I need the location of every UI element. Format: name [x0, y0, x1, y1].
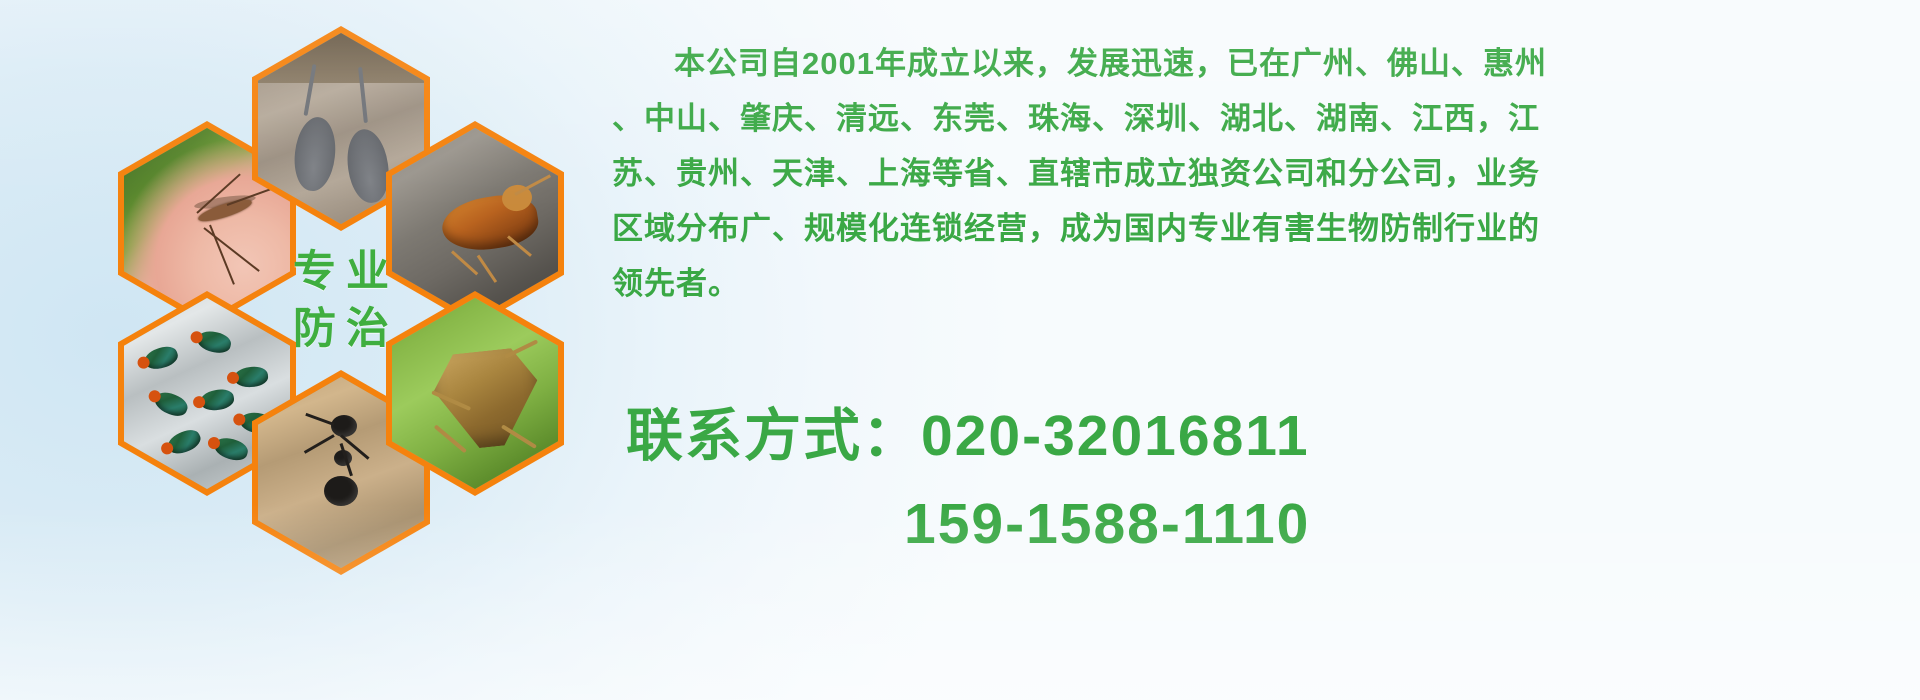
intro-line: 区域分布广、规模化连锁经营，成为国内专业有害生物防制行业的 [612, 201, 1908, 256]
contact-primary-line: 联系方式：020-32016811 [612, 400, 1912, 472]
stink-bug-icon [392, 298, 558, 489]
intro-line: 领先者。 [612, 256, 1908, 311]
contact-label: 联系方式： [626, 404, 921, 468]
intro-line: 、中山、肇庆、清远、东莞、珠海、深圳、湖北、湖南、江西，江 [612, 91, 1908, 146]
badge-line-1: 专业 [283, 251, 399, 294]
intro-line: 苏、贵州、天津、上海等省、直辖市成立独资公司和分公司，业务 [612, 146, 1908, 201]
badge-line-2: 防治 [283, 308, 399, 351]
contact-phone-primary[interactable]: 020-32016811 [921, 404, 1310, 468]
intro-line: 本公司自2001年成立以来，发展迅速，已在广州、佛山、惠州 [612, 36, 1908, 91]
honeycomb-gallery: 专业 防治 [96, 8, 596, 568]
contact-block: 联系方式：020-32016811 159-1588-1110 [612, 400, 1912, 560]
promo-banner: 专业 防治 [0, 0, 1920, 700]
contact-phone-secondary[interactable]: 159-1588-1110 [904, 492, 1310, 556]
intro-paragraph: 本公司自2001年成立以来，发展迅速，已在广州、佛山、惠州 、中山、肇庆、清远、… [612, 36, 1908, 311]
contact-secondary-line: 159-1588-1110 [612, 488, 1912, 560]
